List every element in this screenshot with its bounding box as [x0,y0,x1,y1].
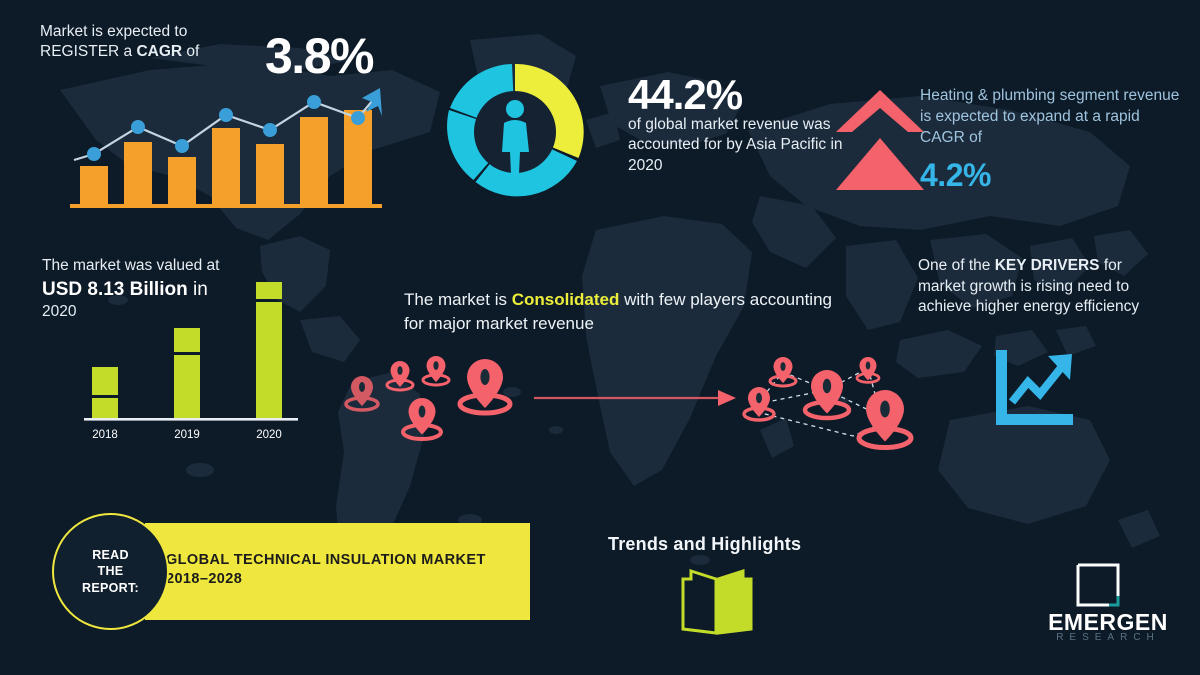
cagr-lead-line1: Market is expected to [40,22,260,42]
trends-and-highlights-label: Trends and Highlights [608,533,801,556]
growth-trend-chart [62,82,387,212]
trend-bars [80,110,372,206]
apac-description: of global market revenue was accounted f… [628,115,843,176]
read-line3: REPORT: [82,580,139,597]
cagr-value: 3.8% [265,24,373,88]
map-pin-icon [770,357,796,386]
map-pin-icon [805,370,849,418]
market-value-bars [92,282,282,418]
scattered-market-pins [338,352,538,452]
year-label-2018: 2018 [92,429,118,441]
open-book-icon [679,563,755,635]
map-pin-icon [423,356,449,385]
connected-market-pins [735,352,920,457]
trend-baseline [70,204,382,208]
cagr-lead-line2-a: REGISTER a [40,43,136,60]
year-label-2019: 2019 [174,429,200,441]
cagr-lead-line2-c: of [182,43,199,60]
market-value-axis [84,418,298,421]
report-title-line1: GLOBAL TECHNICAL INSULATION MARKET [166,552,486,568]
infographic-canvas: Market is expected to REGISTER a CAGR of… [0,0,1200,675]
heating-plumbing-cagr-value: 4.2% [920,155,991,196]
key-drivers-statement: One of the KEY DRIVERS for market growth… [918,256,1166,318]
transition-arrow-icon [532,378,738,418]
market-value-bar-chart: 2018 2019 2020 [70,270,310,445]
growth-chart-icon [988,346,1080,432]
year-label-2020: 2020 [256,429,282,441]
map-pin-icon [387,361,413,390]
upward-arrows-icon [834,84,926,196]
map-pin-icon [857,357,879,382]
map-pin-icon [346,376,378,410]
drivers-pre: One of the [918,257,995,274]
cagr-keyword: CAGR [136,43,182,60]
report-title-line2: 2018–2028 [166,571,242,587]
read-line1: READ [82,547,139,564]
read-the-report-button[interactable]: READ THE REPORT: [52,513,169,630]
apac-percent-value: 44.2% [628,68,742,122]
consolidated-pre: The market is [404,290,512,309]
cagr-lead-line2: REGISTER a CAGR of [40,42,260,62]
logo-subtitle: RESEARCH [1024,632,1192,643]
drivers-highlight: KEY DRIVERS [995,257,1100,274]
heating-plumbing-description: Heating & plumbing segment revenue is ex… [920,86,1180,149]
consolidated-highlight: Consolidated [512,290,620,309]
map-pin-icon [460,359,510,413]
emergen-logo-mark [1075,562,1121,608]
apac-share-donut-chart [425,52,605,217]
read-line2: THE [82,563,139,580]
map-pin-icon [859,390,911,448]
read-the-report-label: READ THE REPORT: [82,547,139,597]
map-pin-icon [744,387,774,420]
map-pin-icon [403,398,441,439]
consolidated-statement: The market is Consolidated with few play… [404,288,834,336]
cagr-lead-text: Market is expected to REGISTER a CAGR of [40,22,260,62]
